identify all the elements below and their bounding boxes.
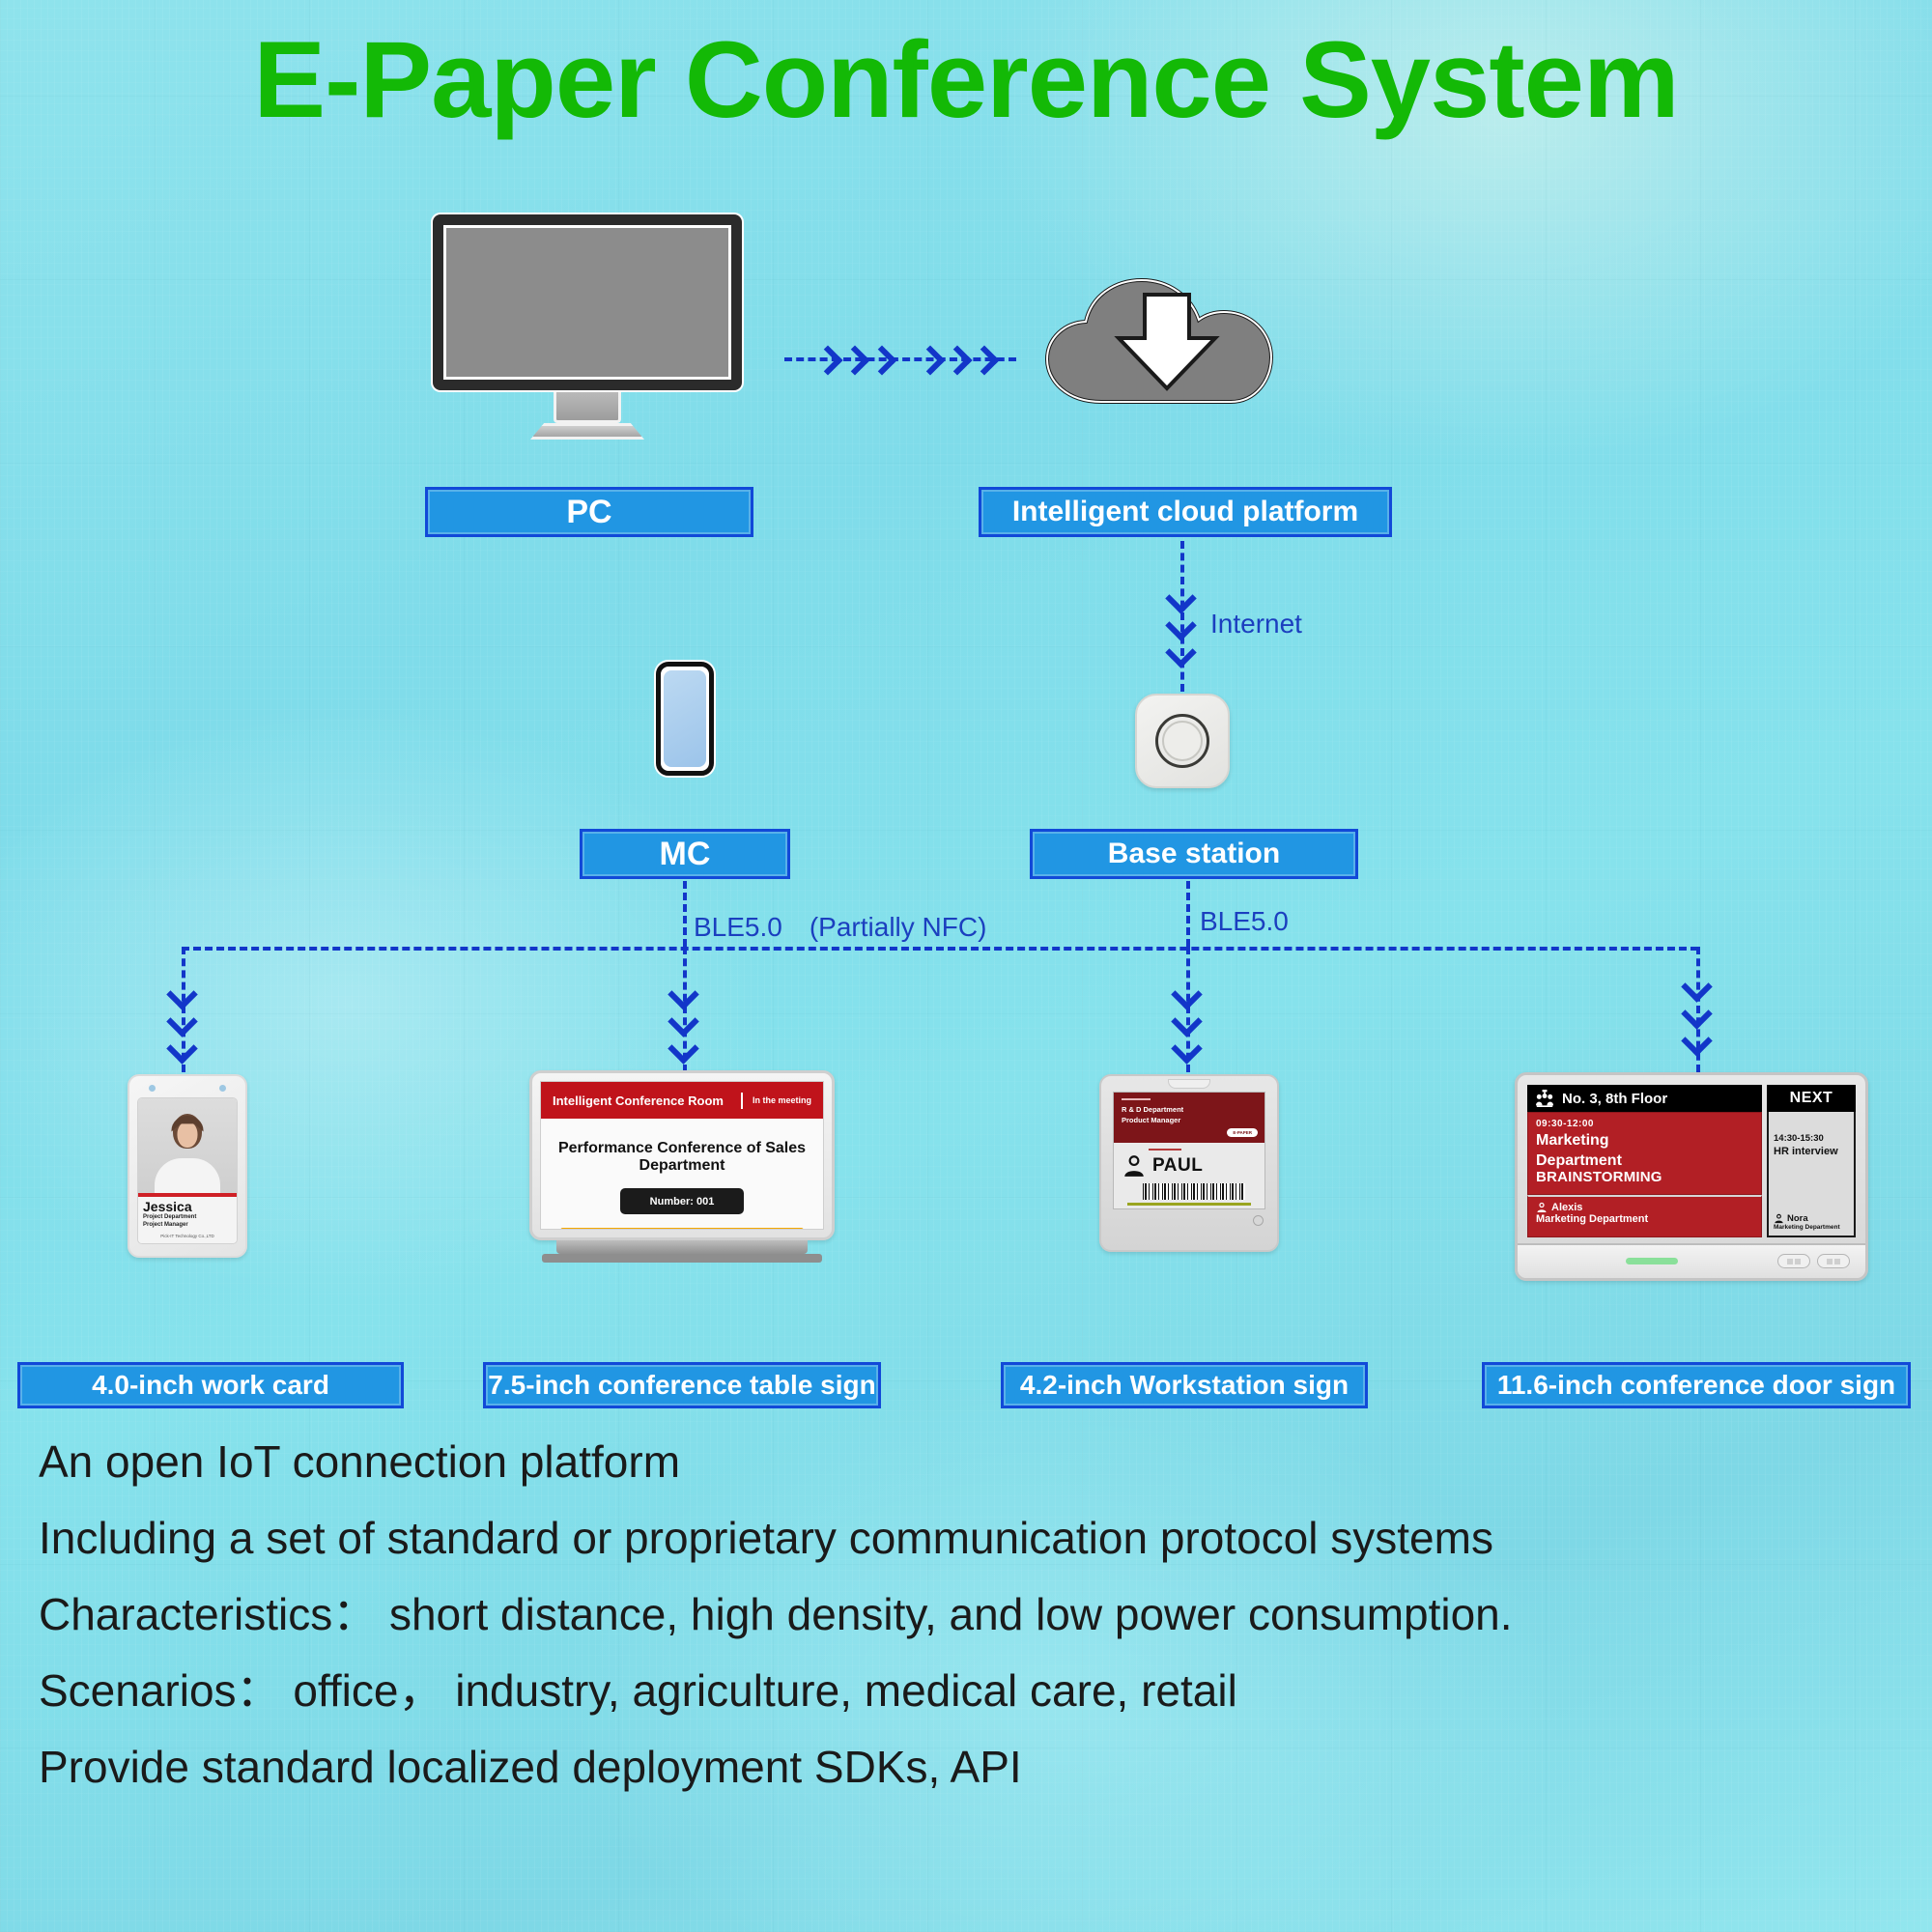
door-sign-next-owner-row: Nora — [1774, 1213, 1849, 1224]
door-sign-bottom-bar — [1518, 1243, 1865, 1278]
person-icon — [1536, 1202, 1548, 1213]
door-sign-current-topic-1: Marketing — [1536, 1132, 1753, 1150]
workstation-shell: R & D Department Product Manager E-PAPER… — [1099, 1074, 1279, 1252]
pc-to-cloud-chevron-1 — [817, 346, 840, 375]
table-sign-stand — [556, 1240, 808, 1254]
label-base-station[interactable]: Base station — [1030, 829, 1358, 879]
work-card-photo — [138, 1098, 237, 1193]
label-device-table-sign[interactable]: 7.5-inch conference table sign — [483, 1362, 881, 1408]
cloud-platform-icon — [1041, 278, 1302, 404]
drop-chevron-ds-2 — [1683, 1003, 1712, 1022]
meeting-group-icon — [1535, 1090, 1554, 1107]
mc-drop-line — [683, 881, 687, 947]
button-segment — [1787, 1259, 1793, 1264]
table-sign-topic: Performance Conference of Sales Departme… — [541, 1140, 823, 1175]
door-sign-current-time: 09:30-12:00 — [1536, 1119, 1753, 1129]
person-icon — [1774, 1213, 1784, 1224]
drop-chevron-wc-2 — [168, 1010, 197, 1030]
drop-chevron-ts-3 — [669, 1037, 698, 1057]
cloud-shape — [1041, 278, 1302, 404]
workstation-role: Product Manager — [1122, 1115, 1257, 1125]
description-list: An open IoT connection platform Includin… — [39, 1439, 1903, 1821]
drop-chevron-ws-1 — [1173, 983, 1202, 1003]
page-title: E-Paper Conference System — [0, 17, 1932, 142]
drop-chevron-wc-3 — [168, 1037, 197, 1057]
workstation-header: R & D Department Product Manager E-PAPER — [1114, 1093, 1264, 1143]
door-sign-current-meeting: 09:30-12:00 Marketing Department BRAINST… — [1527, 1112, 1762, 1195]
door-sign-next-owner-dept: Marketing Department — [1774, 1224, 1849, 1231]
door-sign-next-column: NEXT 14:30-15:30 HR interview Nora Marke… — [1767, 1085, 1856, 1237]
workstation-red-tick — [1149, 1149, 1181, 1151]
door-sign-current-topic-3: BRAINSTORMING — [1536, 1170, 1753, 1186]
workstation-barcode — [1143, 1183, 1245, 1200]
door-sign-current-owner-block: Alexis Marketing Department — [1527, 1195, 1762, 1237]
description-line-1: An open IoT connection platform — [39, 1439, 1903, 1484]
monitor-foot — [530, 423, 644, 440]
base-drop-line — [1186, 881, 1190, 947]
door-sign-status-led — [1626, 1258, 1678, 1264]
work-card-footer: Pick-IT Technology Co.,LTD — [143, 1229, 232, 1238]
door-sign-header: No. 3, 8th Floor — [1527, 1085, 1762, 1112]
pc-to-cloud-chevron-6 — [974, 346, 997, 375]
door-sign-button-left[interactable] — [1777, 1254, 1810, 1268]
door-sign-next-topic: HR interview — [1774, 1146, 1849, 1157]
base-station-ring — [1155, 714, 1209, 768]
table-sign-header: Intelligent Conference Room In the meeti… — [541, 1082, 823, 1119]
phone-screen — [664, 670, 706, 767]
label-pc[interactable]: PC — [425, 487, 753, 537]
description-line-5: Provide standard localized deployment SD… — [39, 1745, 1903, 1789]
label-mc[interactable]: MC — [580, 829, 790, 879]
pc-to-cloud-chevron-2 — [844, 346, 867, 375]
work-card-shell: Jessica Project Department Project Manag… — [128, 1074, 247, 1258]
pc-to-cloud-chevron-5 — [947, 346, 970, 375]
door-sign-next-time: 14:30-15:30 — [1774, 1133, 1849, 1144]
label-device-work-card[interactable]: 4.0-inch work card — [17, 1362, 404, 1408]
drop-chevron-ws-2 — [1173, 1010, 1202, 1030]
drop-chevron-ts-2 — [669, 1010, 698, 1030]
table-sign-screen: Intelligent Conference Room In the meeti… — [540, 1081, 824, 1230]
work-card-department: Project Department — [143, 1213, 232, 1221]
button-segment — [1834, 1259, 1840, 1264]
mc-phone-icon — [656, 662, 714, 776]
device-conference-door-sign: No. 3, 8th Floor 09:30-12:00 Marketing D… — [1515, 1072, 1868, 1281]
table-sign-foot — [542, 1254, 822, 1263]
workstation-body: PAUL — [1114, 1143, 1264, 1209]
ble-nfc-label: BLE5.0 (Partially NFC) — [694, 906, 986, 945]
door-sign-current-owner: Alexis — [1551, 1202, 1582, 1213]
device-bus-line — [182, 947, 1698, 951]
table-sign-status-wrap: In the meeting — [741, 1093, 811, 1109]
door-sign-room: No. 3, 8th Floor — [1562, 1091, 1667, 1107]
drop-chevron-ws-3 — [1173, 1037, 1202, 1057]
person-icon — [1122, 1153, 1147, 1179]
internet-chevron-3 — [1167, 641, 1196, 661]
door-sign-current-owner-row: Alexis — [1536, 1202, 1753, 1213]
monitor-neck — [554, 392, 621, 423]
pc-monitor-icon — [433, 214, 742, 406]
base-station-icon — [1135, 694, 1230, 788]
work-card-screen: Jessica Project Department Project Manag… — [137, 1097, 238, 1244]
door-sign-next-meeting: 14:30-15:30 HR interview Nora Marketing … — [1767, 1112, 1856, 1237]
device-workstation-sign: R & D Department Product Manager E-PAPER… — [1099, 1074, 1279, 1252]
button-segment — [1827, 1259, 1833, 1264]
table-sign-room: Intelligent Conference Room — [553, 1094, 724, 1108]
description-line-3: Characteristics： short distance, high de… — [39, 1592, 1903, 1636]
button-segment — [1795, 1259, 1801, 1264]
table-sign-status: In the meeting — [753, 1095, 811, 1105]
door-sign-next-owner-block: Nora Marketing Department — [1774, 1213, 1849, 1231]
door-sign-current-owner-dept: Marketing Department — [1536, 1213, 1753, 1225]
base-station-body — [1135, 694, 1230, 788]
base-station-ring-inner — [1162, 721, 1203, 761]
drop-chevron-ds-1 — [1683, 976, 1712, 995]
workstation-name: PAUL — [1152, 1155, 1203, 1177]
workstation-department: R & D Department — [1122, 1104, 1257, 1115]
work-card-holes — [137, 1085, 238, 1094]
workstation-green-line — [1127, 1203, 1251, 1206]
door-sign-current-topic-2: Department — [1536, 1152, 1753, 1170]
avatar-face — [178, 1122, 198, 1148]
internet-chevron-1 — [1167, 587, 1196, 607]
workstation-power-indicator — [1253, 1215, 1264, 1226]
monitor-screen — [433, 214, 742, 390]
door-sign-buttons[interactable] — [1777, 1254, 1850, 1268]
label-device-door-sign[interactable]: 11.6-inch conference door sign — [1482, 1362, 1911, 1408]
workstation-footer — [1113, 1209, 1265, 1231]
lanyard-hole-left — [149, 1085, 156, 1092]
workstation-handle — [1168, 1079, 1210, 1089]
lanyard-hole-right — [219, 1085, 226, 1092]
door-sign-button-right[interactable] — [1817, 1254, 1850, 1268]
drop-chevron-ts-1 — [669, 983, 698, 1003]
work-card-name: Jessica — [143, 1200, 232, 1213]
door-sign-shell: No. 3, 8th Floor 09:30-12:00 Marketing D… — [1515, 1072, 1868, 1281]
table-sign-frame: Intelligent Conference Room In the meeti… — [529, 1070, 835, 1240]
door-sign-screen: No. 3, 8th Floor 09:30-12:00 Marketing D… — [1527, 1085, 1856, 1237]
work-card-info: Jessica Project Department Project Manag… — [138, 1197, 237, 1243]
internet-chevron-2 — [1167, 614, 1196, 634]
door-sign-main-column: No. 3, 8th Floor 09:30-12:00 Marketing D… — [1527, 1085, 1762, 1237]
work-card-role: Project Manager — [143, 1221, 232, 1229]
workstation-chip-badge: E-PAPER — [1227, 1128, 1258, 1137]
label-cloud-platform[interactable]: Intelligent cloud platform — [979, 487, 1392, 537]
door-sign-next-owner: Nora — [1787, 1213, 1808, 1224]
description-line-4: Scenarios： office， industry, agriculture… — [39, 1668, 1903, 1713]
internet-label: Internet — [1210, 609, 1302, 639]
description-line-2: Including a set of standard or proprieta… — [39, 1516, 1903, 1560]
pc-to-cloud-chevron-4 — [920, 346, 943, 375]
drop-chevron-ds-3 — [1683, 1030, 1712, 1049]
label-device-workstation-sign[interactable]: 4.2-inch Workstation sign — [1001, 1362, 1368, 1408]
ble-label: BLE5.0 — [1200, 906, 1289, 937]
pc-to-cloud-chevron-3 — [871, 346, 895, 375]
device-conference-table-sign: Intelligent Conference Room In the meeti… — [529, 1070, 835, 1264]
device-work-card: Jessica Project Department Project Manag… — [128, 1074, 247, 1258]
workstation-screen: R & D Department Product Manager E-PAPER… — [1113, 1092, 1265, 1209]
avatar-body — [155, 1158, 220, 1193]
table-sign-number: Number: 001 — [620, 1188, 744, 1214]
phone-body — [656, 662, 714, 776]
table-sign-accent-line — [560, 1228, 804, 1230]
table-sign-divider — [741, 1093, 743, 1109]
workstation-accent-tick — [1122, 1098, 1151, 1100]
drop-chevron-wc-1 — [168, 983, 197, 1003]
workstation-person-row: PAUL — [1122, 1153, 1257, 1179]
door-sign-next-header: NEXT — [1767, 1085, 1856, 1112]
